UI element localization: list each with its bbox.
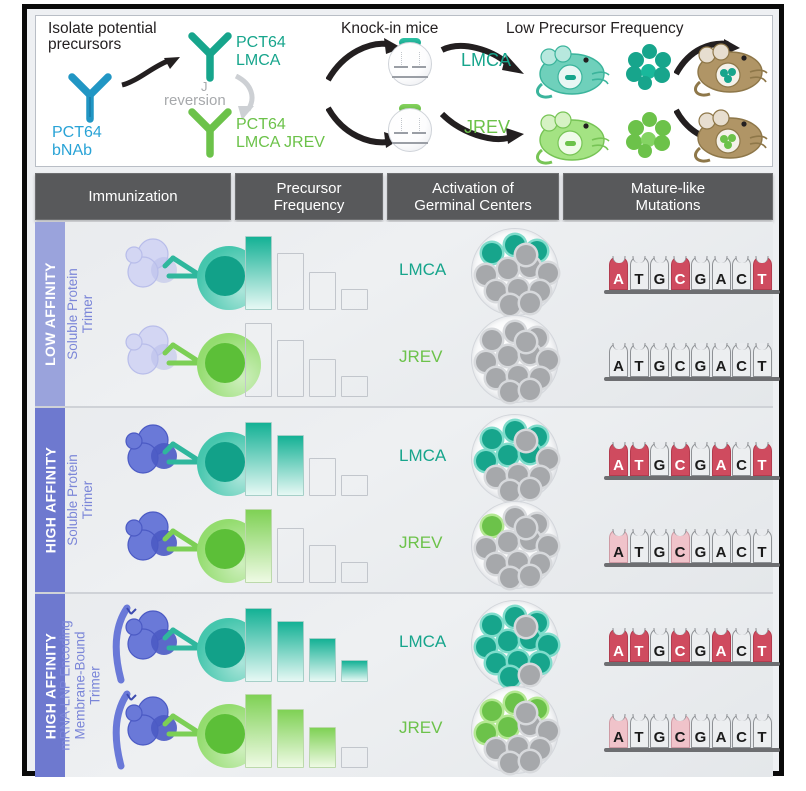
germinal-center-cell xyxy=(520,479,540,499)
germinal-center-cell xyxy=(520,380,540,400)
dna-base: A xyxy=(609,256,628,290)
dna-base-letter: A xyxy=(613,643,624,660)
dna-base-letter: G xyxy=(695,729,707,746)
germinal-center-cell xyxy=(498,717,518,737)
dna-base-letter: G xyxy=(695,271,707,288)
dna-base: A xyxy=(712,256,731,290)
precursor-frequency-chart-lmca xyxy=(245,422,368,496)
precursor-frequency-chart-jrev xyxy=(245,509,368,583)
knockin-cell-lmca-icon xyxy=(388,38,436,86)
dna-base-letter: C xyxy=(675,271,686,288)
column-header-precursor-frequency-line1: Precursor xyxy=(276,180,341,197)
germinal-center-cell xyxy=(498,631,518,651)
dna-base: A xyxy=(609,529,628,563)
germinal-center-cell xyxy=(482,330,502,350)
column-header-mature-mutations-line1: Mature-like xyxy=(631,180,705,197)
column-header-germinal-centers-line1: Activation of xyxy=(432,180,514,197)
dna-base: T xyxy=(630,714,649,748)
dna-base-letter: A xyxy=(613,729,624,746)
label-arrow-jrev: JREV xyxy=(464,119,510,136)
row-high-affinity-soluble: HIGH AFFINITYSoluble ProteinTrimer LMCA … xyxy=(35,408,773,594)
precursor-bar xyxy=(245,236,272,310)
dna-base-letter: C xyxy=(675,358,686,375)
precursor-bar xyxy=(277,621,304,682)
germinal-center-jrev xyxy=(471,315,559,403)
precursor-bar xyxy=(245,694,272,768)
dna-base-letter: G xyxy=(654,457,666,474)
germinal-center-cell xyxy=(482,243,502,263)
germinal-center-cell xyxy=(482,701,502,721)
germinal-center-jrev xyxy=(471,686,559,774)
column-header-germinal-centers-line2: Germinal Centers xyxy=(414,197,532,214)
dna-base-letter: G xyxy=(654,729,666,746)
affinity-label-text: LOW AFFINITY xyxy=(42,262,58,366)
antibody-bnab-icon xyxy=(64,71,116,123)
dna-base: A xyxy=(609,628,628,662)
dna-base: G xyxy=(650,442,669,476)
dna-base: G xyxy=(650,628,669,662)
germinal-center-cell xyxy=(482,429,502,449)
antibody-lmca-icon xyxy=(184,30,236,82)
germinal-center-cell xyxy=(538,721,558,741)
dna-base-letter: T xyxy=(634,271,643,288)
precursor-bar xyxy=(309,727,336,768)
dna-base-letter: A xyxy=(613,271,624,288)
dna-base-letter: A xyxy=(613,544,624,561)
dna-base: C xyxy=(671,628,690,662)
germinal-center-lmca xyxy=(471,414,559,502)
dna-base: T xyxy=(753,628,772,662)
germinal-center-cell xyxy=(498,532,518,552)
dna-base-letter: C xyxy=(736,271,747,288)
dna-base: T xyxy=(630,529,649,563)
dna-base: C xyxy=(671,256,690,290)
germinal-center-cell xyxy=(516,332,536,352)
dna-base-letter: C xyxy=(736,643,747,660)
dna-base-letter: C xyxy=(675,729,686,746)
dna-base-letter: A xyxy=(716,544,727,561)
immunization-type-label: Soluble ProteinTrimer xyxy=(65,222,95,406)
arm-label-lmca: LMCA xyxy=(399,260,446,280)
precursor-bar xyxy=(277,435,304,496)
germinal-center-cell xyxy=(538,536,558,556)
dna-base: C xyxy=(671,442,690,476)
germinal-center-jrev xyxy=(471,501,559,589)
label-jrev-line2: LMCA JREV xyxy=(236,134,325,151)
precursor-bar xyxy=(309,638,336,682)
label-jrev-line1: PCT64 xyxy=(236,116,286,133)
germinal-center-cell xyxy=(520,665,540,685)
arm-label-jrev: JREV xyxy=(399,533,442,553)
dna-base: A xyxy=(609,343,628,377)
immunization-type-text: mRNA-LNP EncodingMembrane-BoundTrimer xyxy=(58,620,103,750)
dna-base: C xyxy=(732,529,751,563)
immunization-type-label: Soluble ProteinTrimer xyxy=(65,408,95,592)
knockin-cell-jrev-icon xyxy=(388,104,436,152)
precursor-bar xyxy=(277,709,304,768)
dna-base-letter: C xyxy=(675,544,686,561)
precursor-bar xyxy=(277,340,304,397)
dna-base-letter: A xyxy=(716,358,727,375)
precursor-frequency-chart-lmca xyxy=(245,236,368,310)
dna-base-letter: C xyxy=(736,457,747,474)
arm-label-lmca: LMCA xyxy=(399,632,446,652)
column-header-germinal-centers: Activation of Germinal Centers xyxy=(387,173,559,220)
row-high-affinity-mrna: HIGH AFFINITYmRNA-LNP EncodingMembrane-B… xyxy=(35,594,773,777)
dna-base: T xyxy=(753,442,772,476)
germinal-center-cell xyxy=(538,350,558,370)
dna-base-letter: C xyxy=(736,729,747,746)
dna-base-letter: T xyxy=(757,643,766,660)
dna-base: C xyxy=(671,343,690,377)
dna-base: C xyxy=(732,343,751,377)
precursor-bar xyxy=(245,422,272,496)
precursor-frequency-chart-jrev xyxy=(245,323,368,397)
dna-base: A xyxy=(712,714,731,748)
dna-backbone xyxy=(604,476,780,480)
germinal-center-cell xyxy=(482,615,502,635)
top-schematic-panel: Isolate potential precursors Knock-in mi… xyxy=(35,15,773,167)
label-lmca-line2: LMCA xyxy=(236,52,280,69)
dna-base-letter: T xyxy=(757,271,766,288)
dna-base: C xyxy=(732,256,751,290)
dna-base: G xyxy=(650,343,669,377)
column-header-mature-mutations-line2: Mutations xyxy=(635,197,700,214)
germinal-center-cell xyxy=(498,445,518,465)
dna-backbone xyxy=(604,377,780,381)
precursor-bar xyxy=(341,475,368,496)
dna-base-letter: G xyxy=(695,358,707,375)
dna-base-letter: C xyxy=(675,457,686,474)
dna-base-letter: A xyxy=(716,729,727,746)
label-bnab-line1: PCT64 xyxy=(52,124,102,141)
dna-backbone xyxy=(604,748,780,752)
germinal-center-cell xyxy=(498,259,518,279)
dna-base: A xyxy=(712,628,731,662)
germinal-center-cell xyxy=(516,617,536,637)
antibody-jrev-icon xyxy=(184,106,236,158)
dna-base: A xyxy=(712,343,731,377)
graphical-abstract: Isolate potential precursors Knock-in mi… xyxy=(22,4,784,776)
dna-base-letter: T xyxy=(757,729,766,746)
germinal-center-lmca xyxy=(471,600,559,688)
dna-base: G xyxy=(691,442,710,476)
column-header-mature-mutations: Mature-like Mutations xyxy=(563,173,773,220)
mouse-jrev-icon xyxy=(530,110,612,166)
row-low-affinity-soluble: LOW AFFINITYSoluble ProteinTrimer LMCA A xyxy=(35,222,773,408)
cluster-jrev-cells-icon xyxy=(624,110,674,156)
dna-base-letter: G xyxy=(654,544,666,561)
dna-base-letter: T xyxy=(634,358,643,375)
dna-base-letter: G xyxy=(695,643,707,660)
column-header-immunization-label: Immunization xyxy=(88,188,177,205)
dna-base-letter: T xyxy=(757,544,766,561)
affinity-label-text: HIGH AFFINITY xyxy=(42,632,58,739)
dna-base-letter: A xyxy=(716,643,727,660)
germinal-center-cell xyxy=(500,568,520,588)
dna-base: G xyxy=(650,714,669,748)
mouse-lmca-icon xyxy=(530,44,612,100)
precursor-bar xyxy=(245,323,272,397)
dna-base: A xyxy=(609,442,628,476)
dna-base: A xyxy=(712,529,731,563)
title-knock-in-mice: Knock-in mice xyxy=(341,21,438,37)
precursor-bar xyxy=(341,660,368,682)
dna-sequence-jrev: A T G C G A C xyxy=(609,706,789,752)
column-header-precursor-frequency-line2: Frequency xyxy=(274,197,345,214)
dna-base-letter: T xyxy=(634,544,643,561)
title-low-precursor-frequency: Low Precursor Frequency xyxy=(506,21,683,37)
dna-base-letter: T xyxy=(634,457,643,474)
germinal-center-cell xyxy=(482,516,502,536)
dna-base: C xyxy=(732,442,751,476)
germinal-center-cell xyxy=(500,481,520,501)
dna-base-letter: A xyxy=(613,457,624,474)
dna-base-letter: C xyxy=(675,643,686,660)
germinal-center-cell xyxy=(516,703,536,723)
dna-base: G xyxy=(691,529,710,563)
precursor-bar xyxy=(277,253,304,310)
precursor-bar xyxy=(245,509,272,583)
dna-base-letter: G xyxy=(654,271,666,288)
dna-base-letter: G xyxy=(695,457,707,474)
dna-base-letter: A xyxy=(613,358,624,375)
precursor-bar xyxy=(341,289,368,310)
arm-label-lmca: LMCA xyxy=(399,446,446,466)
dna-base: G xyxy=(691,256,710,290)
dna-sequence-jrev: A T G C G A C xyxy=(609,335,789,381)
dna-backbone xyxy=(604,290,780,294)
arm-label-jrev: JREV xyxy=(399,347,442,367)
dna-base-letter: G xyxy=(654,643,666,660)
dna-sequence-lmca: A T G C G A C xyxy=(609,620,789,666)
precursor-bar xyxy=(245,608,272,682)
dna-base: C xyxy=(732,628,751,662)
germinal-center-cell xyxy=(538,449,558,469)
label-lmca-line1: PCT64 xyxy=(236,34,286,51)
germinal-center-cell xyxy=(520,751,540,771)
affinity-label-text: HIGH AFFINITY xyxy=(42,447,58,554)
dna-base-letter: T xyxy=(634,643,643,660)
germinal-center-cell xyxy=(516,245,536,265)
arrow-to-lmca xyxy=(120,51,182,91)
dna-base-letter: C xyxy=(736,544,747,561)
cluster-lmca-cells-icon xyxy=(624,42,674,88)
dna-sequence-lmca: A T G C G A C xyxy=(609,434,789,480)
dna-base: C xyxy=(671,714,690,748)
dna-base: G xyxy=(691,714,710,748)
germinal-center-cell xyxy=(500,667,520,687)
column-header-precursor-frequency: Precursor Frequency xyxy=(235,173,383,220)
dna-base: T xyxy=(630,628,649,662)
precursor-bar xyxy=(309,272,336,310)
precursor-bar xyxy=(341,747,368,768)
affinity-label-low: LOW AFFINITY xyxy=(35,222,65,406)
mouse-recipient-lmca-icon xyxy=(688,42,770,98)
dna-base: G xyxy=(691,628,710,662)
germinal-center-cell xyxy=(538,263,558,283)
precursor-bar xyxy=(277,528,304,583)
label-bnab-line2: bNAb xyxy=(52,142,92,159)
germinal-center-cell xyxy=(500,753,520,773)
dna-sequence-lmca: A T G C G A C xyxy=(609,248,789,294)
dna-backbone xyxy=(604,662,780,666)
precursor-bar xyxy=(309,458,336,496)
dna-base: C xyxy=(732,714,751,748)
precursor-frequency-chart-jrev xyxy=(245,694,368,768)
dna-base-letter: G xyxy=(654,358,666,375)
dna-base-letter: A xyxy=(716,271,727,288)
dna-base: C xyxy=(671,529,690,563)
germinal-center-lmca xyxy=(471,228,559,316)
germinal-center-cell xyxy=(516,518,536,538)
immunization-type-text: Soluble ProteinTrimer xyxy=(65,268,95,360)
germinal-center-cell xyxy=(498,346,518,366)
germinal-center-cell xyxy=(520,566,540,586)
dna-base: T xyxy=(753,529,772,563)
mouse-recipient-jrev-icon xyxy=(688,108,770,164)
dna-base: G xyxy=(691,343,710,377)
precursor-bar xyxy=(341,562,368,583)
affinity-label-high: HIGH AFFINITY xyxy=(35,408,65,592)
precursor-frequency-chart-lmca xyxy=(245,608,368,682)
dna-base: T xyxy=(630,442,649,476)
dna-base: T xyxy=(630,343,649,377)
dna-base-letter: T xyxy=(757,457,766,474)
dna-base: A xyxy=(712,442,731,476)
dna-base: A xyxy=(609,714,628,748)
germinal-center-cell xyxy=(538,635,558,655)
germinal-center-cell xyxy=(500,295,520,315)
column-header-immunization: Immunization xyxy=(35,173,231,220)
immunization-type-text: Soluble ProteinTrimer xyxy=(65,454,95,546)
dna-base-letter: C xyxy=(736,358,747,375)
germinal-center-cell xyxy=(516,431,536,451)
precursor-bar xyxy=(309,545,336,583)
arm-label-jrev: JREV xyxy=(399,718,442,738)
dna-base-letter: A xyxy=(716,457,727,474)
label-arrow-lmca: LMCA xyxy=(461,52,511,69)
germinal-center-cell xyxy=(520,293,540,313)
dna-base: T xyxy=(753,256,772,290)
dna-base-letter: G xyxy=(695,544,707,561)
dna-base: G xyxy=(650,256,669,290)
germinal-center-cell xyxy=(500,382,520,402)
precursor-bar xyxy=(309,359,336,397)
precursor-bar xyxy=(341,376,368,397)
dna-base-letter: T xyxy=(757,358,766,375)
dna-base-letter: T xyxy=(634,729,643,746)
dna-base: G xyxy=(650,529,669,563)
dna-sequence-jrev: A T G C G A C xyxy=(609,521,789,567)
dna-backbone xyxy=(604,563,780,567)
title-isolate-precursors: Isolate potential precursors xyxy=(48,21,198,53)
dna-base: T xyxy=(753,343,772,377)
immunization-type-label: mRNA-LNP EncodingMembrane-BoundTrimer xyxy=(65,594,95,777)
dna-base: T xyxy=(630,256,649,290)
dna-base: T xyxy=(753,714,772,748)
